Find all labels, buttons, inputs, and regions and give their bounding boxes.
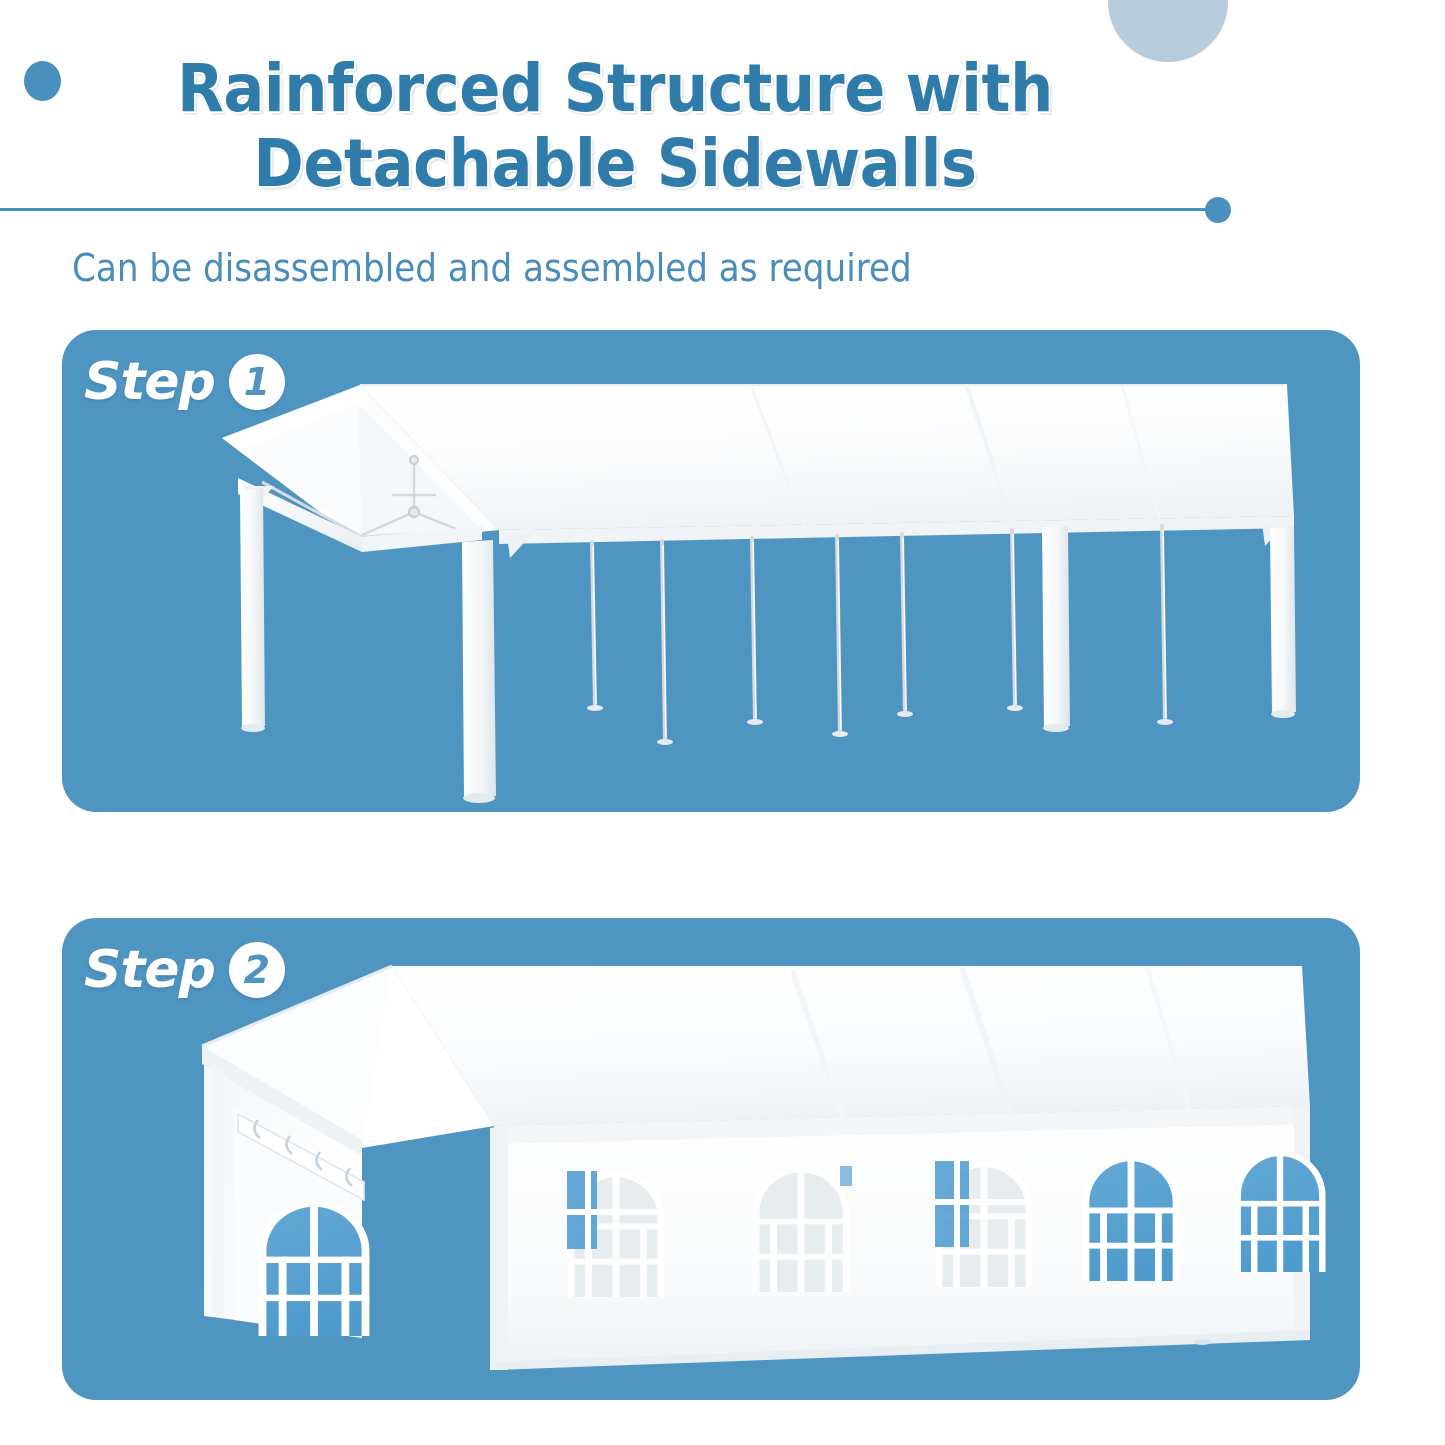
step-2-panel: Step 2 bbox=[62, 918, 1360, 1400]
step-2-number: 2 bbox=[229, 942, 285, 998]
sidewall-window-4 bbox=[1086, 1158, 1176, 1281]
sidewall-window-5 bbox=[1238, 1153, 1323, 1272]
step-2-label: Step bbox=[84, 940, 215, 1000]
sidewall-window-1 bbox=[567, 1171, 665, 1297]
step-2-badge: Step 2 bbox=[84, 940, 285, 1000]
step-1-label: Step bbox=[84, 352, 215, 412]
divider-end-dot-icon bbox=[1205, 197, 1231, 223]
header-divider-line bbox=[0, 208, 1222, 211]
sidewall-window-3 bbox=[935, 1161, 1033, 1287]
step-1-number: 1 bbox=[229, 354, 285, 410]
page-subtitle: Can be disassembled and assembled as req… bbox=[72, 246, 912, 290]
page-title: Rainforced Structure with Detachable Sid… bbox=[49, 52, 1181, 201]
sidewall-window-2 bbox=[756, 1166, 852, 1292]
step-1-panel: Step 1 bbox=[62, 330, 1360, 812]
step-1-badge: Step 1 bbox=[84, 352, 285, 412]
infographic-page: Rainforced Structure with Detachable Sid… bbox=[0, 0, 1445, 1445]
